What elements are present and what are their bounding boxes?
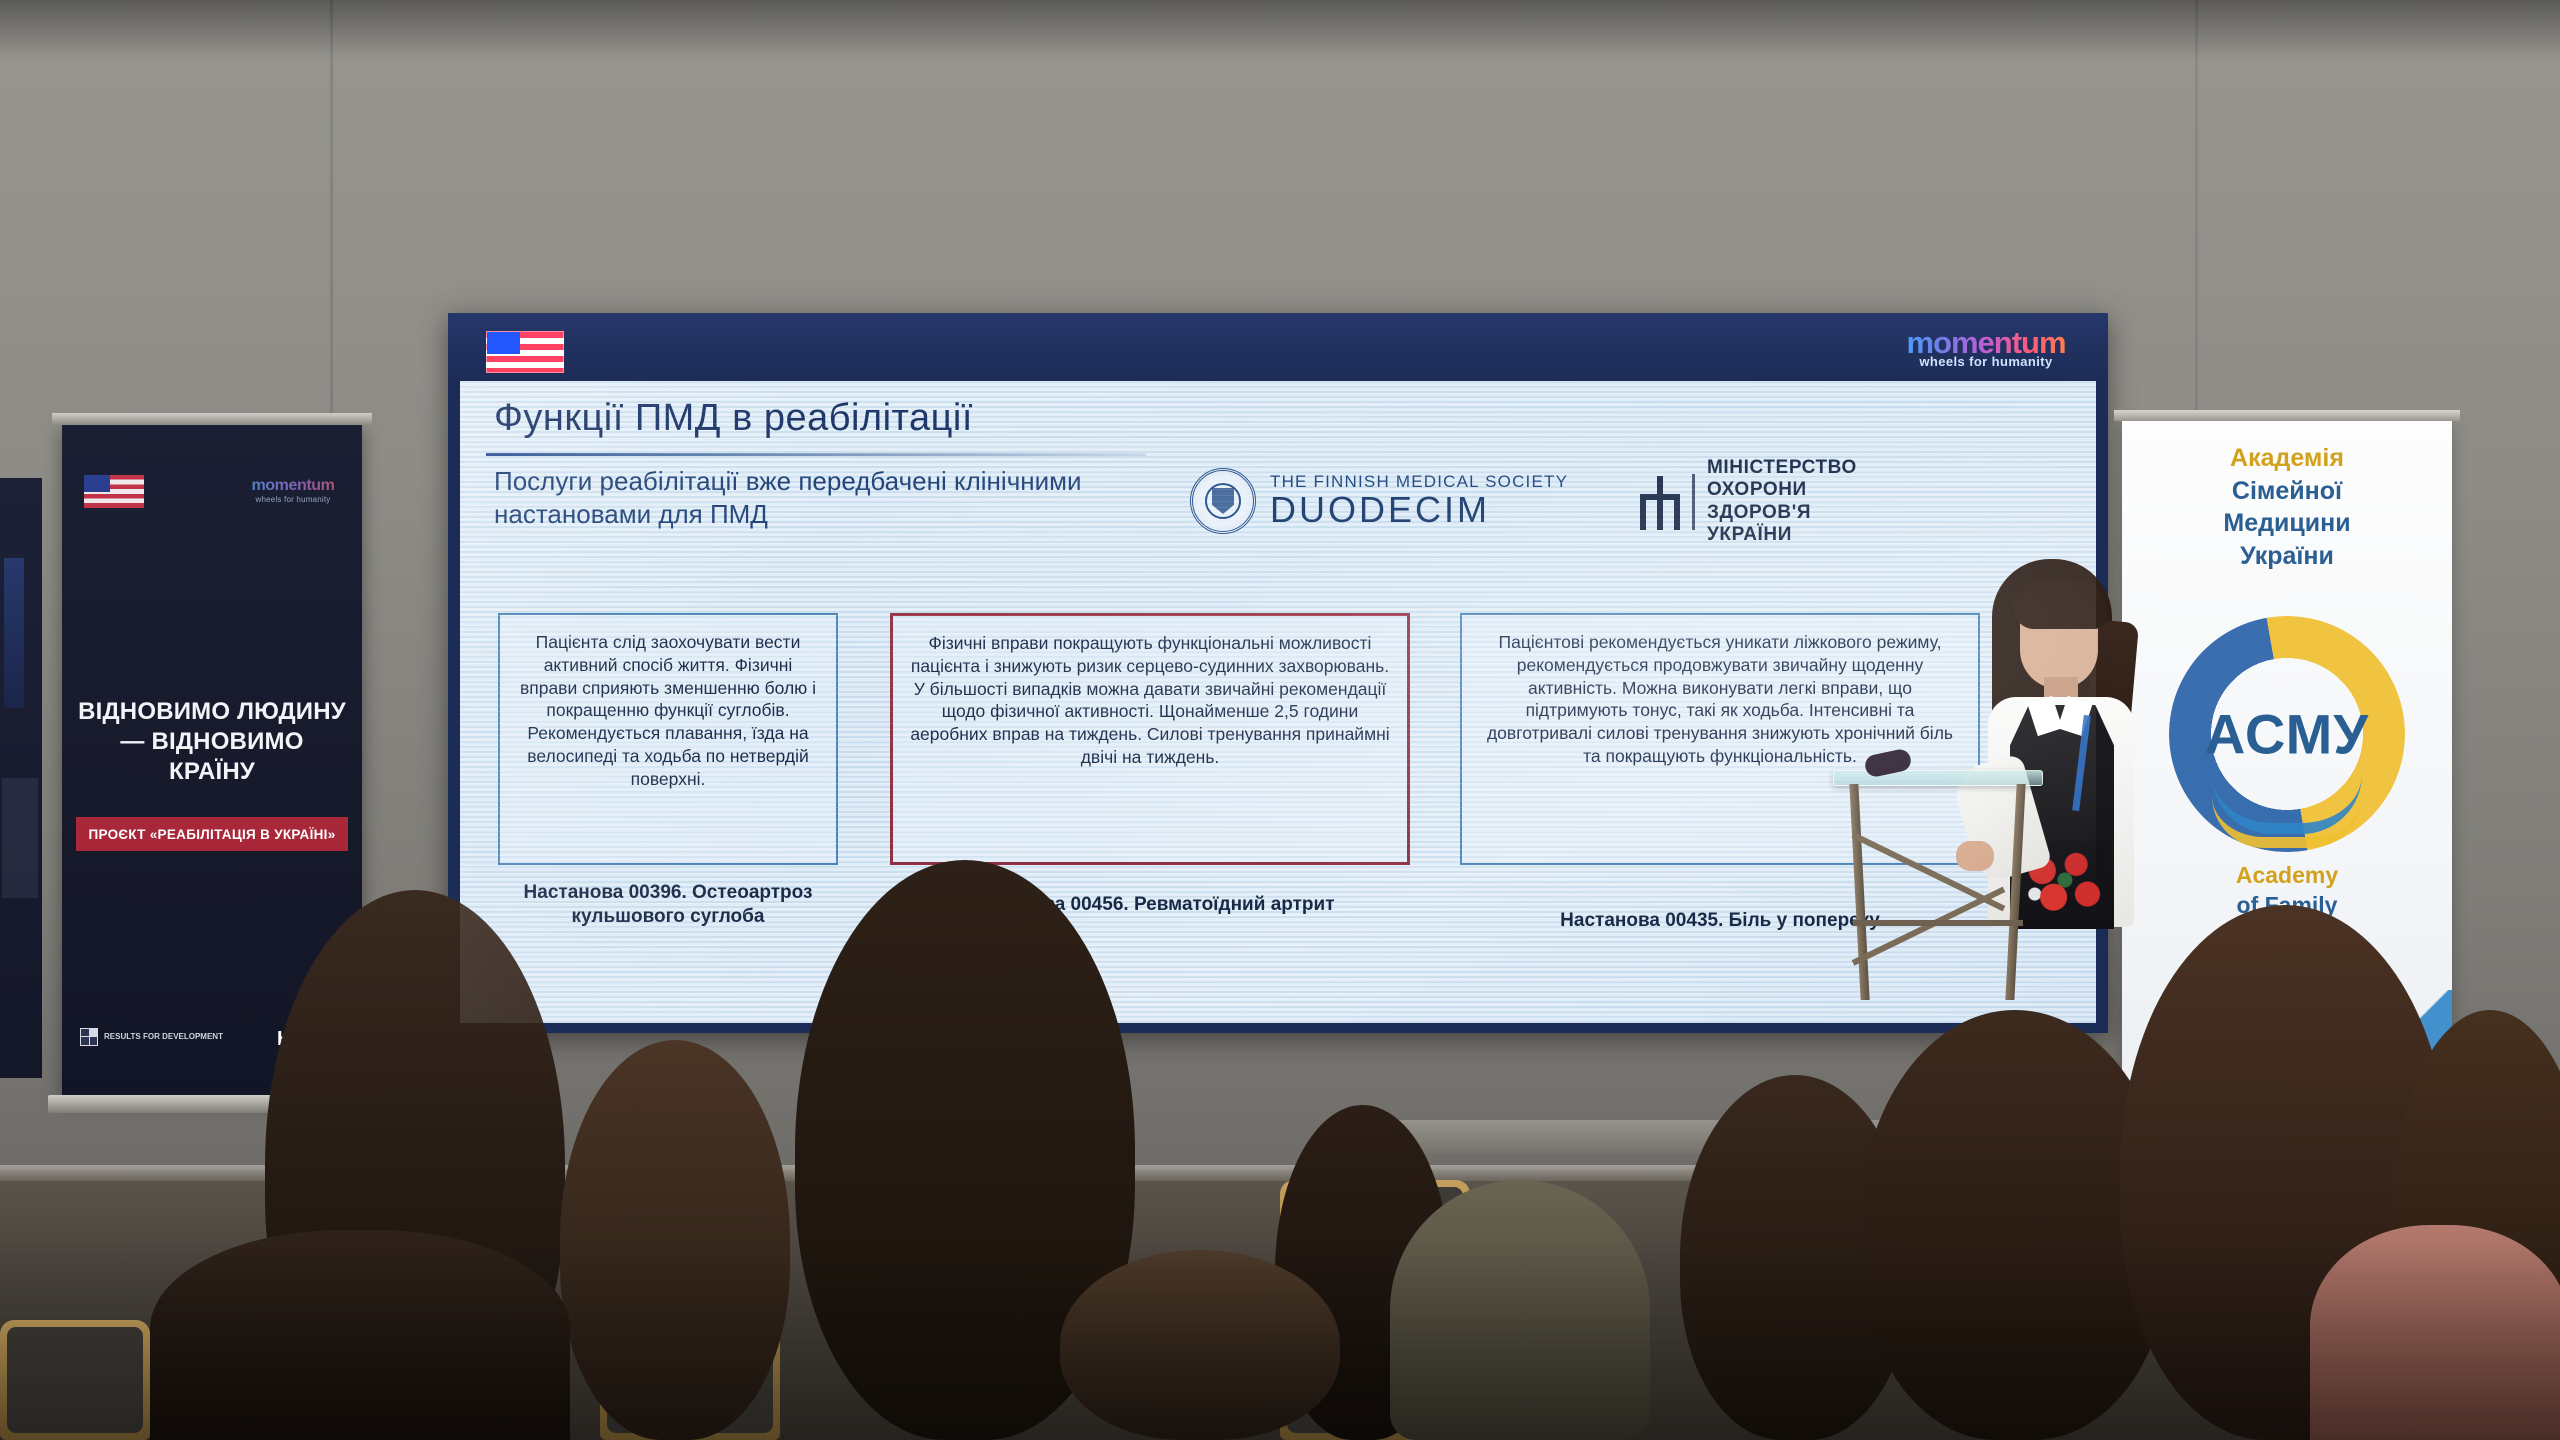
glass-lectern-icon [1843, 770, 2033, 1000]
guideline-box-center: Фізичні вправи покращують функціональні … [890, 613, 1410, 865]
audience-shoulder [150, 1230, 570, 1440]
seal-crest-icon [1212, 488, 1234, 514]
results-for-development-logo: RESULTS FOR DEVELOPMENT [80, 1028, 223, 1046]
banner-left-ribbon-text: ПРОЄКТ «РЕАБІЛІТАЦІЯ В УКРАЇНІ» [88, 827, 335, 842]
banner-right-title: Академія Сімейної Медицини України [2136, 442, 2438, 572]
audience-head [1390, 1180, 1650, 1440]
ministry-line-3: ЗДОРОВ'Я [1707, 502, 1857, 524]
presenter-fringe [2014, 581, 2106, 629]
banner-right-english-line-1: Academy [2136, 860, 2438, 890]
guideline-caption-left: Настанова 00396. Остеоартроз кульшового … [498, 881, 838, 929]
ministry-line-1: МІНІСТЕРСТВО [1707, 457, 1857, 479]
banner-left-ribbon: ПРОЄКТ «РЕАБІЛІТАЦІЯ В УКРАЇНІ» [76, 817, 348, 851]
audience-head [560, 1040, 790, 1440]
us-flag-icon [486, 331, 564, 373]
us-flag-canton [487, 332, 520, 354]
logo-divider [1692, 474, 1695, 530]
duodecim-wordmark: DUODECIM [1270, 491, 1568, 529]
banner-right-title-line-1: Академія [2136, 442, 2438, 475]
acmu-wave-gold [2212, 796, 2362, 848]
lectern-brace-b [1852, 887, 2006, 966]
banner-right-title-line-2: Сімейної [2136, 475, 2438, 508]
banner-right-title-line-4: України [2136, 540, 2438, 573]
duodecim-logo: THE FINNISH MEDICAL SOCIETY DUODECIM [1190, 463, 1590, 539]
momentum-tagline: wheels for humanity [1890, 355, 2082, 368]
banner-left-top-rail [52, 413, 372, 425]
banner-right-title-line-3: Медицини [2136, 507, 2438, 540]
lectern-glass-top [1833, 770, 2043, 786]
lectern-post-left [1849, 784, 1869, 1000]
chair [0, 1320, 150, 1440]
ceiling-shadow [0, 0, 2560, 60]
slide-header-band: momentum wheels for humanity [448, 313, 2108, 381]
guideline-box-left: Пацієнта слід заохочувати вести активний… [498, 613, 838, 865]
lectern-post-right [2005, 784, 2025, 1000]
acmu-arch-wave-icon: АСМУ [2169, 616, 2405, 852]
acmu-acronym: АСМУ [2205, 702, 2369, 767]
audience-head [1060, 1250, 1340, 1440]
ministry-name: МІНІСТЕРСТВО ОХОРОНИ ЗДОРОВ'Я УКРАЇНИ [1707, 457, 1857, 547]
slide-subtitle: Послуги реабілітації вже передбачені клі… [494, 465, 1194, 532]
r4d-mark-icon [80, 1028, 98, 1046]
momentum-logo: momentum wheels for humanity [238, 477, 348, 504]
audience-shoulder [2310, 1225, 2560, 1440]
title-underline [486, 453, 1146, 456]
momentum-tagline: wheels for humanity [238, 495, 348, 504]
ministry-of-health-logo: МІНІСТЕРСТВО ОХОРОНИ ЗДОРОВ'Я УКРАЇНИ [1640, 457, 1857, 547]
ministry-line-4: УКРАЇНИ [1707, 524, 1857, 546]
banner-right-top-rail [2114, 410, 2460, 421]
banner-left-headline: ВІДНОВИМО ЛЮДИНУ — ВІДНОВИМО КРАЇНУ [78, 697, 346, 787]
momentum-logo: momentum wheels for humanity [1890, 327, 2082, 373]
slide-title: Функції ПМД в реабілітації [494, 397, 973, 440]
momentum-wordmark: momentum [238, 477, 348, 495]
r4d-label: RESULTS FOR DEVELOPMENT [104, 1032, 223, 1041]
us-flag-icon [84, 475, 144, 508]
lectern-shelf [1853, 920, 2023, 926]
banner-partial-far-left [0, 478, 42, 1078]
ukraine-trident-icon [1640, 474, 1680, 530]
ministry-line-2: ОХОРОНИ [1707, 479, 1857, 501]
screenshot-root: momentum wheels for humanity Функції ПМД… [0, 0, 2560, 1440]
finnish-medical-society-seal-icon [1190, 468, 1256, 534]
